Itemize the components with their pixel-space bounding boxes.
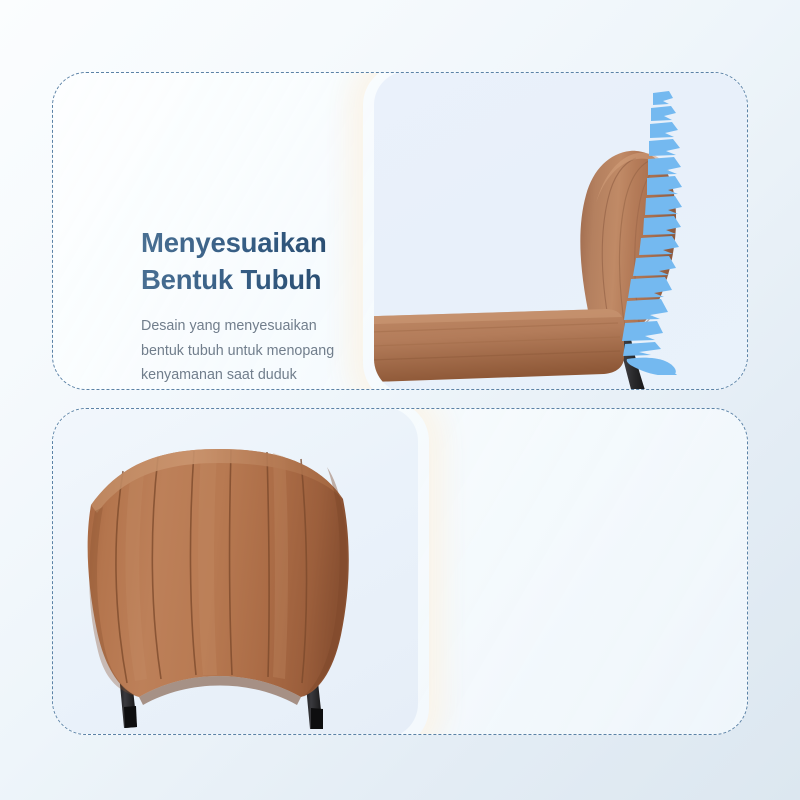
infographic-page: Menyesuaikan Bentuk Tubuh Desain yang me…: [0, 0, 800, 800]
product-image-panel-top: [374, 72, 748, 390]
product-image-panel-bottom: [52, 408, 418, 735]
spine-icon: [603, 85, 723, 375]
backrest-pad: [88, 449, 349, 705]
feature-card-ergonomic-design: Desain Ergonomis Efektif untuk menopang …: [52, 408, 748, 735]
body-copy-adjusts-to-body: Desain yang menyesuaikan bentuk tubuh un…: [141, 314, 411, 388]
headline-adjusts-to-body: Menyesuaikan Bentuk Tubuh: [141, 225, 411, 298]
feature-card-adjusts-to-body: Menyesuaikan Bentuk Tubuh Desain yang me…: [52, 72, 748, 390]
feature-text-top: Menyesuaikan Bentuk Tubuh Desain yang me…: [141, 225, 411, 388]
chair-seat-side: [374, 309, 624, 383]
chair-backrest-illustration: [52, 408, 418, 735]
spine-illustration-wrapper: [603, 85, 723, 375]
